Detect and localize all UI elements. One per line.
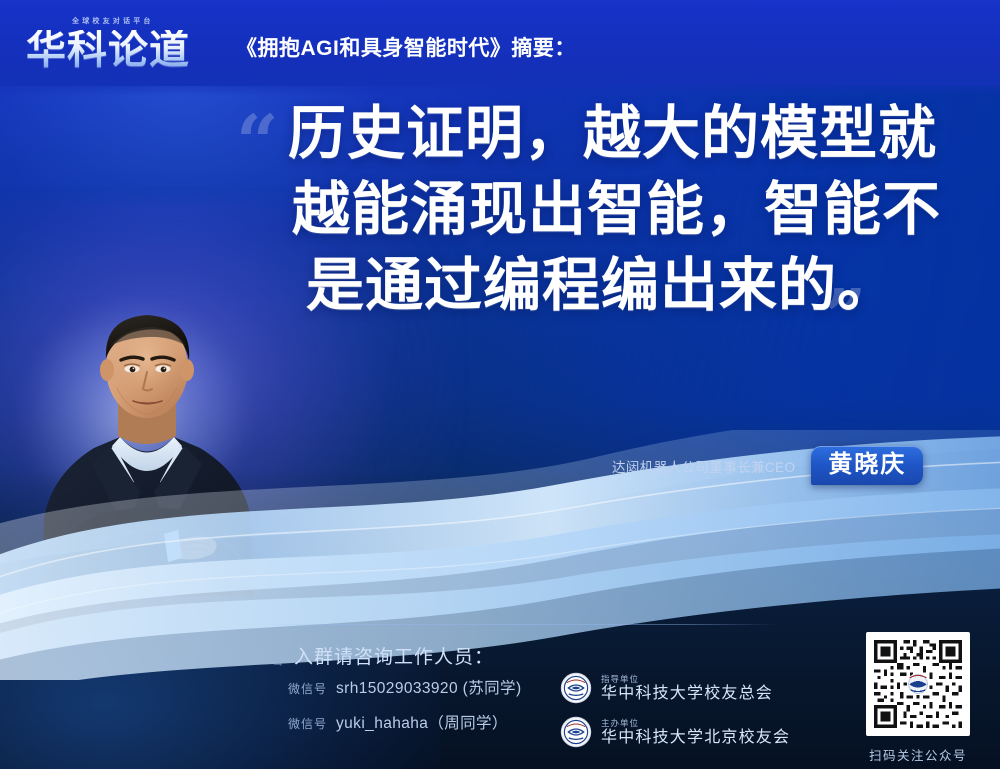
brand-logo-kicker: 全球校友对话平台: [72, 16, 154, 26]
contact-label: 微信号: [288, 715, 327, 732]
qr-block[interactable]: 扫码关注公众号: [858, 632, 978, 764]
quote-lines: 历史证明，越大的模型就 越能涌现出智能，智能不 是通过编程编出来的。: [288, 96, 956, 324]
qr-code-icon[interactable]: [866, 632, 970, 736]
organizer-name: 华中科技大学校友总会: [601, 685, 773, 703]
contact-list: 微信号 srh15029033920 (苏同学) 微信号 yuki_hahaha…: [288, 676, 522, 746]
brand-logo-text: 华科论道: [26, 30, 216, 72]
attribution: 达闼机器人公司董事长兼CEO 黄晓庆: [612, 446, 923, 485]
speaker-role: 达闼机器人公司董事长兼CEO: [612, 456, 795, 476]
organizer-kicker: 指导单位: [601, 674, 773, 684]
quote-line-3: 是通过编程编出来的。: [306, 248, 956, 324]
quote-line-1: 历史证明，越大的模型就: [288, 96, 956, 172]
footer-divider: [258, 624, 778, 625]
join-group-label: 入群请咨询工作人员：: [294, 642, 494, 669]
organizer-row: 主办单位 华中科技大学北京校友会: [560, 716, 790, 748]
university-seal-icon: [560, 716, 592, 748]
university-seal-icon: [560, 672, 592, 704]
contact-value: srh15029033920 (苏同学): [336, 676, 522, 698]
organizer-kicker: 主办单位: [601, 718, 790, 728]
speaker-portrait: [22, 296, 272, 596]
quote-line-2: 越能涌现出智能，智能不: [292, 172, 956, 248]
quote-block: “ ” 历史证明，越大的模型就 越能涌现出智能，智能不 是通过编程编出来的。: [236, 96, 956, 324]
page-title: 《拥抱AGI和具身智能时代》摘要：: [236, 32, 576, 62]
join-group-row: 入群请咨询工作人员：: [258, 642, 494, 669]
poster-canvas: 全球校友对话平台 华科论道 《拥抱AGI和具身智能时代》摘要： “ ” 历史证明…: [0, 0, 1000, 769]
brand-logo[interactable]: 全球校友对话平台 华科论道: [26, 14, 216, 72]
contact-value: yuki_hahaha（周同学）: [336, 711, 508, 733]
organizer-name: 华中科技大学北京校友会: [601, 729, 790, 747]
organizer-list: 指导单位 华中科技大学校友总会 主办单位 华中科技大学北京校友会: [560, 672, 790, 760]
contact-row[interactable]: 微信号 srh15029033920 (苏同学): [288, 676, 522, 698]
contact-row[interactable]: 微信号 yuki_hahaha（周同学）: [288, 711, 522, 733]
speaker-name-badge: 黄晓庆: [811, 446, 923, 485]
quote-open-icon: “: [236, 106, 279, 180]
organizer-texts: 指导单位 华中科技大学校友总会: [601, 674, 773, 703]
footer: 入群请咨询工作人员： 微信号 srh15029033920 (苏同学) 微信号 …: [0, 624, 1000, 769]
contact-label: 微信号: [288, 680, 327, 697]
wechat-icon: [258, 646, 284, 666]
organizer-row: 指导单位 华中科技大学校友总会: [560, 672, 790, 704]
qr-caption: 扫码关注公众号: [869, 745, 967, 764]
header-bar: 全球校友对话平台 华科论道 《拥抱AGI和具身智能时代》摘要：: [0, 0, 1000, 86]
organizer-texts: 主办单位 华中科技大学北京校友会: [601, 718, 790, 747]
